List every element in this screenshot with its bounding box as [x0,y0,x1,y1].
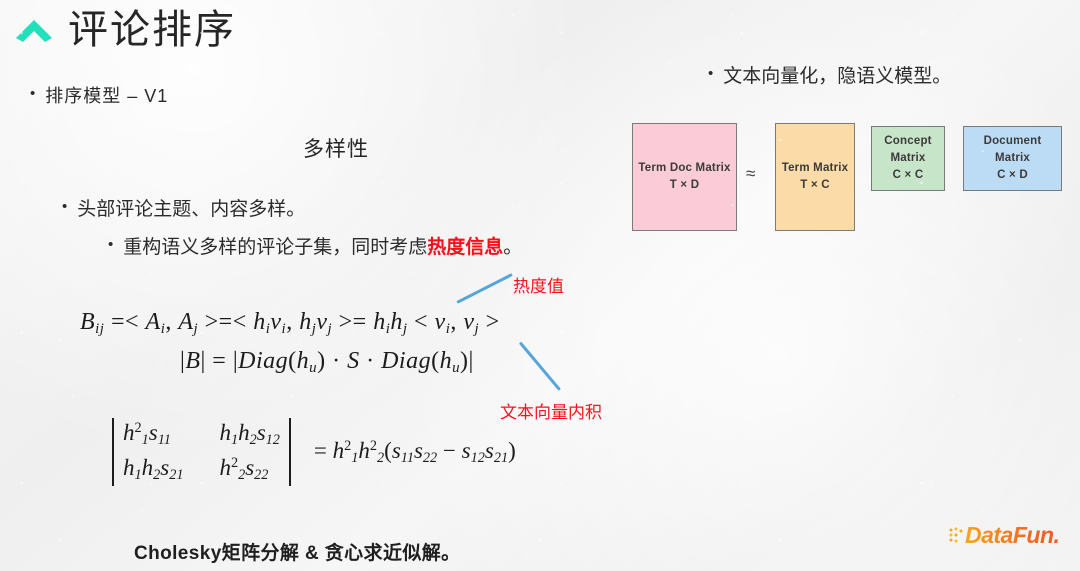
leader-line-heat-value [456,273,513,304]
annotation-text-vector-dot: 文本向量内积 [500,398,602,423]
conclusion-text: Cholesky矩阵分解 & 贪心求近似解。 [134,538,461,565]
bullet-latent-semantic-label: 文本向量化，隐语义模型。 [723,64,951,90]
matrix-box-term-label: Term Matrix [782,160,849,177]
matrix-box-document-label-line1: Document [984,133,1042,150]
subset-text-suffix: 。 [503,237,522,258]
cut-off-text: 。。。。 [22,564,65,571]
datafun-logo: DataFun. [948,521,1059,549]
matrix-box-concept-label-line2: Matrix [890,150,925,167]
bullet-dot: • [62,197,67,217]
formula-inner-product: Bij =< Ai, Aj >=< hivi, hjvj >= hihj < v… [80,309,500,338]
heading-diversity: 多样性 [303,133,369,163]
matrix-cell-12: h1h2s12 [219,420,279,449]
matrix-box-document-label-line2: Matrix [995,150,1030,167]
matrix-cell-11: h21s11 [123,420,183,449]
subset-text-prefix: 重构语义多样的评论子集，同时考虑 [123,237,427,258]
matrix-box-term-doc: Term Doc Matrix T × D [632,123,737,231]
bullet-dot: • [30,84,35,104]
formula-2x2-determinant: h21s11 h1h2s12 h1h2s21 h22s22 = h21h22(s… [103,418,516,486]
bullet-topic-diversity-label: 头部评论主题、内容多样。 [77,197,305,223]
matrix-box-term-doc-label: Term Doc Matrix [638,160,730,177]
matrix-box-concept-label-line1: Concept [884,133,931,150]
formula-determinant-diag: |B| = |Diag(hu) · S · Diag(hu)| [180,348,474,377]
determinant-bar-right [289,418,291,486]
matrix-box-term-doc-dims: T × D [670,177,699,194]
bullet-ranking-model-label: 排序模型 – V1 [45,84,168,108]
matrix-box-document: Document Matrix C × D [963,126,1062,191]
matrix-box-term-dims: T × C [800,177,829,194]
approx-equals-symbol: ≈ [746,164,755,184]
slide-canvas: 评论排序 • 排序模型 – V1 多样性 • 头部评论主题、内容多样。 • 重构… [0,0,1080,571]
bullet-latent-semantic: • 文本向量化，隐语义模型。 [708,64,951,90]
matrix-box-term: Term Matrix T × C [775,123,855,231]
matrix-cell-21: h1h2s21 [123,455,183,484]
matrix-box-concept-dims: C × C [893,167,924,184]
matrix-box-concept: Concept Matrix C × C [871,126,945,191]
logo-dots-icon [948,526,964,544]
bullet-topic-diversity: • 头部评论主题、内容多样。 [62,197,305,223]
matrix-box-document-dims: C × D [997,167,1028,184]
determinant-matrix: h21s11 h1h2s12 h1h2s21 h22s22 [123,420,280,483]
bullet-subset-reconstruct: • 重构语义多样的评论子集，同时考虑热度信息。 [108,235,522,261]
bullet-subset-reconstruct-label: 重构语义多样的评论子集，同时考虑热度信息。 [123,235,522,261]
leader-line-text-vector-dot [519,342,561,391]
matrix-cell-22: h22s22 [219,455,279,484]
bullet-dot: • [108,235,113,255]
bullet-ranking-model: • 排序模型 – V1 [30,84,168,108]
slide-title-row: 评论排序 [14,10,236,50]
page-title: 评论排序 [68,10,236,50]
annotation-heat-value: 热度值 [513,272,564,297]
logo-wordmark: DataFun. [965,522,1059,549]
determinant-bar-left [112,418,114,486]
determinant-rhs: = h21h22(s11s22 − s12s21) [314,438,516,467]
highlight-heat-info: 热度信息 [427,237,503,258]
bullet-dot: • [708,64,713,84]
chevron-up-icon [14,14,54,46]
